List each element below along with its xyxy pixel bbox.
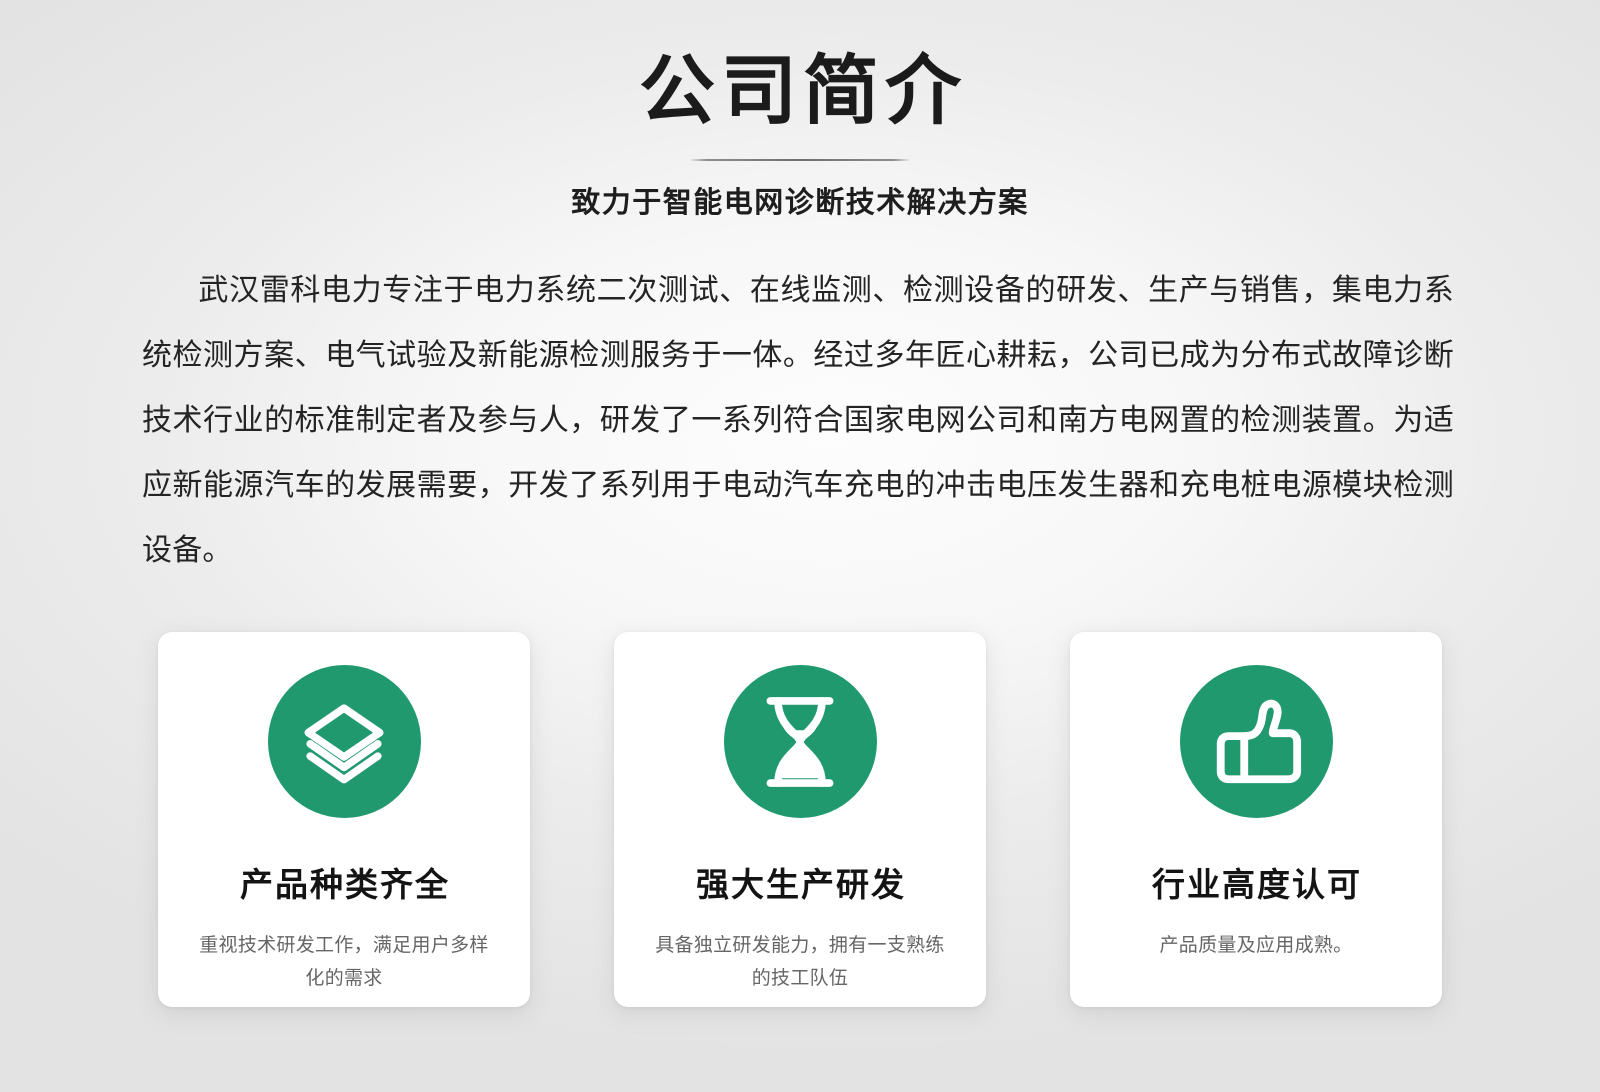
feature-card-title: 产品种类齐全	[238, 865, 450, 905]
feature-card-list: 产品种类齐全 重视技术研发工作，满足用户多样化的需求 强大生产研发 具备独立	[0, 632, 1600, 1007]
feature-card-description: 重视技术研发工作，满足用户多样化的需求	[194, 929, 494, 995]
feature-card-description: 具备独立研发能力，拥有一支熟练的技工队伍	[650, 929, 950, 995]
thumbs-up-icon	[1180, 665, 1333, 818]
feature-card-rnd-capability[interactable]: 强大生产研发 具备独立研发能力，拥有一支熟练的技工队伍	[614, 632, 986, 1007]
feature-card-description: 产品质量及应用成熟。	[1106, 929, 1406, 962]
intro-text: 武汉雷科电力专注于电力系统二次测试、在线监测、检测设备的研发、生产与销售，集电力…	[142, 274, 1454, 567]
title-divider	[689, 159, 911, 161]
layers-icon	[268, 665, 421, 818]
page-root: 公司简介 致力于智能电网诊断技术解决方案 武汉雷科电力专注于电力系统二次测试、在…	[0, 0, 1600, 1092]
page-title: 公司简介	[0, 44, 1600, 140]
hourglass-icon	[724, 665, 877, 818]
company-intro-paragraph: 武汉雷科电力专注于电力系统二次测试、在线监测、检测设备的研发、生产与销售，集电力…	[142, 258, 1454, 583]
feature-card-product-range[interactable]: 产品种类齐全 重视技术研发工作，满足用户多样化的需求	[158, 632, 530, 1007]
page-header: 公司简介 致力于智能电网诊断技术解决方案	[0, 44, 1600, 223]
feature-card-industry-recognition[interactable]: 行业高度认可 产品质量及应用成熟。	[1070, 632, 1442, 1007]
page-subtitle: 致力于智能电网诊断技术解决方案	[0, 183, 1600, 223]
feature-card-title: 强大生产研发	[694, 865, 906, 905]
feature-card-title: 行业高度认可	[1150, 865, 1362, 905]
